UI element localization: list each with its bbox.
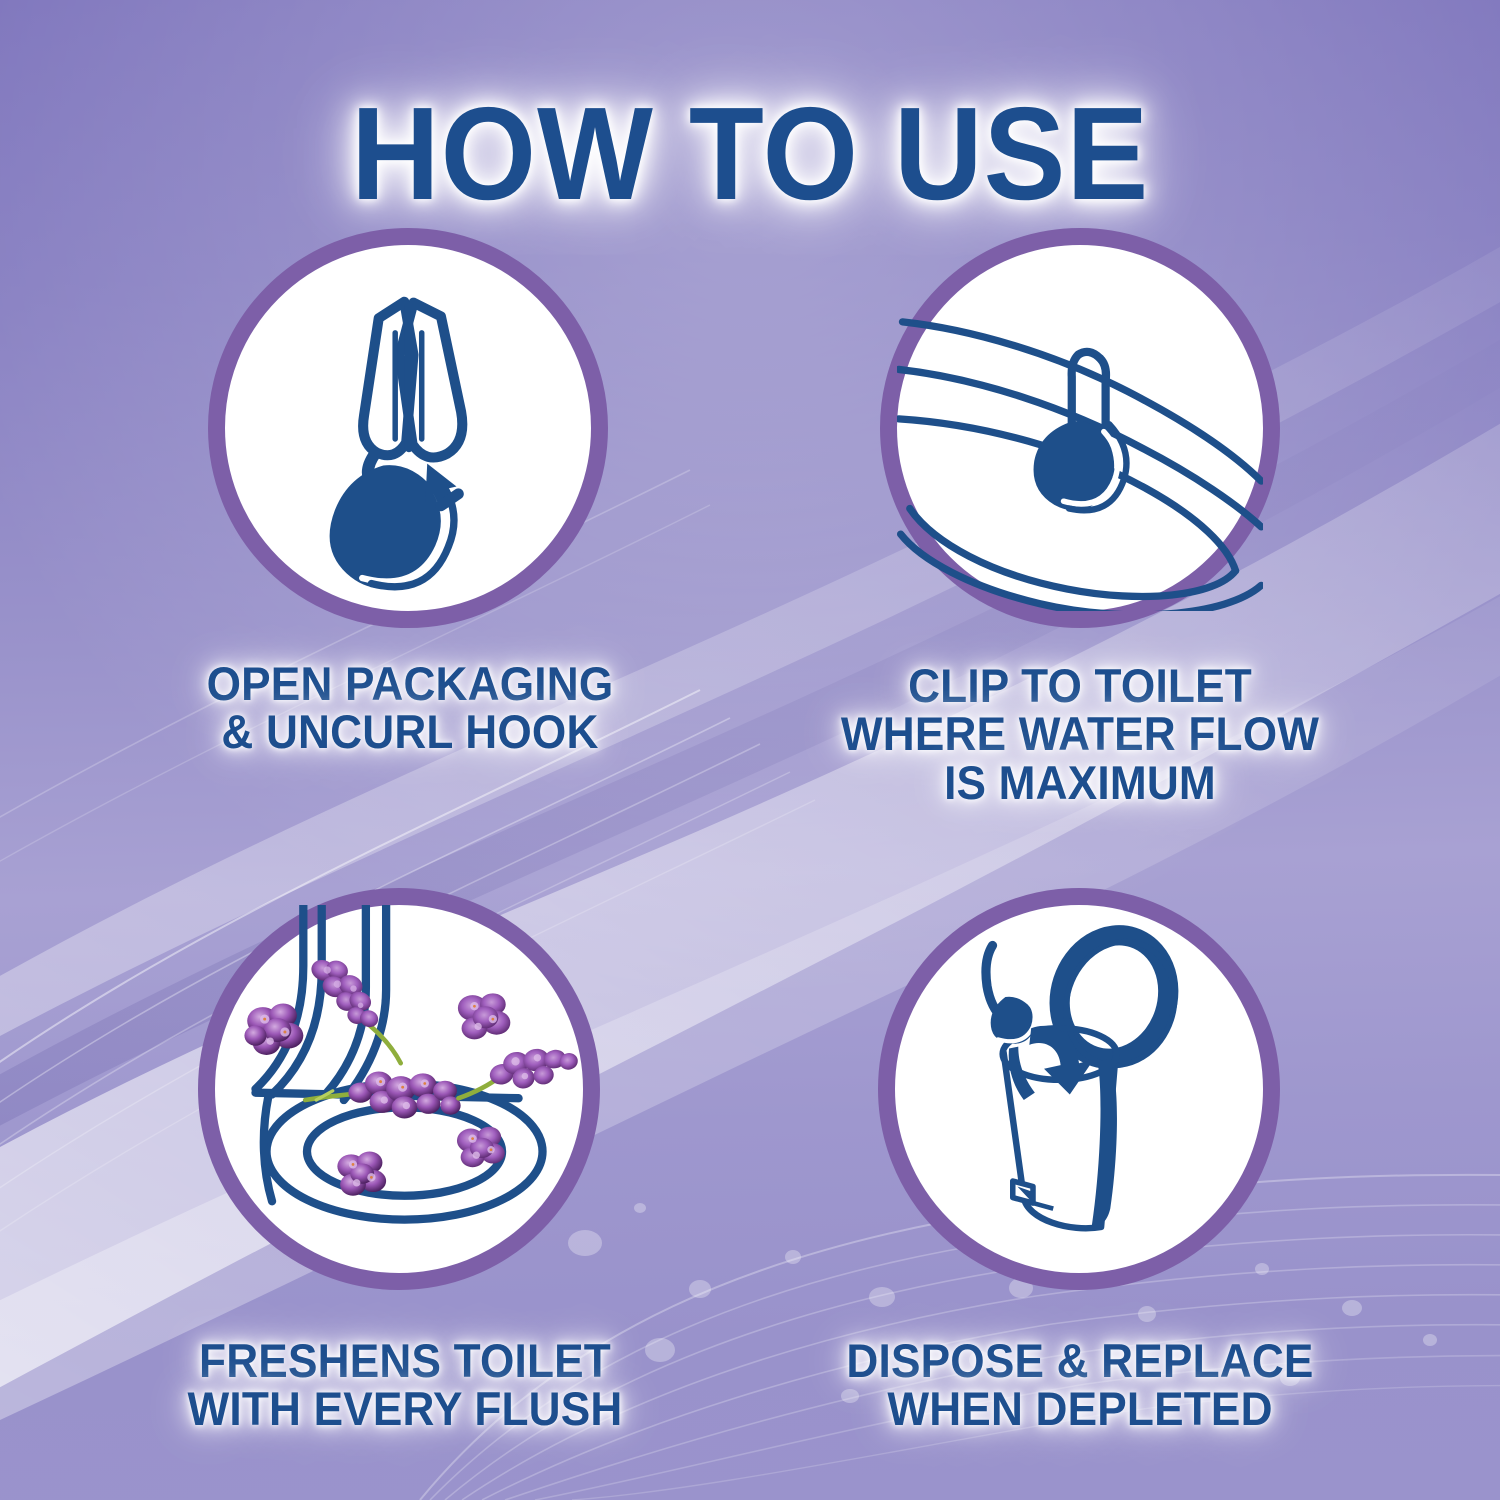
clip-attached-to-toilet-rim-icon <box>880 228 1280 628</box>
lavender-cluster <box>457 1127 505 1167</box>
caption-line: WHEN DEPLETED <box>807 1385 1352 1433</box>
caption-line: & UNCURL HOOK <box>137 708 682 756</box>
how-to-use-infographic: HOW TO USE <box>0 0 1500 1500</box>
step-4-caption: DISPOSE & REPLACE WHEN DEPLETED <box>790 1337 1370 1434</box>
page-title-container: HOW TO USE <box>0 88 1500 220</box>
caption-line: CLIP TO TOILET <box>807 662 1352 710</box>
caption-line: IS MAXIMUM <box>807 759 1352 807</box>
caption-line: WITH EVERY FLUSH <box>128 1385 683 1433</box>
clip-being-dropped <box>986 945 1035 1043</box>
caption-line: OPEN PACKAGING <box>137 660 682 708</box>
step-3-caption: FRESHENS TOILET WITH EVERY FLUSH <box>110 1337 700 1434</box>
lavender-cluster <box>458 993 510 1039</box>
caption-line: FRESHENS TOILET <box>128 1337 683 1385</box>
caption-line: DISPOSE & REPLACE <box>807 1337 1352 1385</box>
toilet-with-lavender-flowers-icon <box>198 888 600 1290</box>
page-title: HOW TO USE <box>351 88 1149 220</box>
lavender-cluster <box>337 1152 386 1196</box>
step-2-caption: CLIP TO TOILET WHERE WATER FLOW IS MAXIM… <box>790 662 1370 807</box>
step-1-caption: OPEN PACKAGING & UNCURL HOOK <box>120 660 700 757</box>
caption-line: WHERE WATER FLOW <box>807 710 1352 758</box>
clip-with-uncurled-hook-icon <box>208 228 608 628</box>
dispose-clip-in-bin-icon <box>878 888 1280 1290</box>
lavender-cluster <box>244 1003 303 1055</box>
